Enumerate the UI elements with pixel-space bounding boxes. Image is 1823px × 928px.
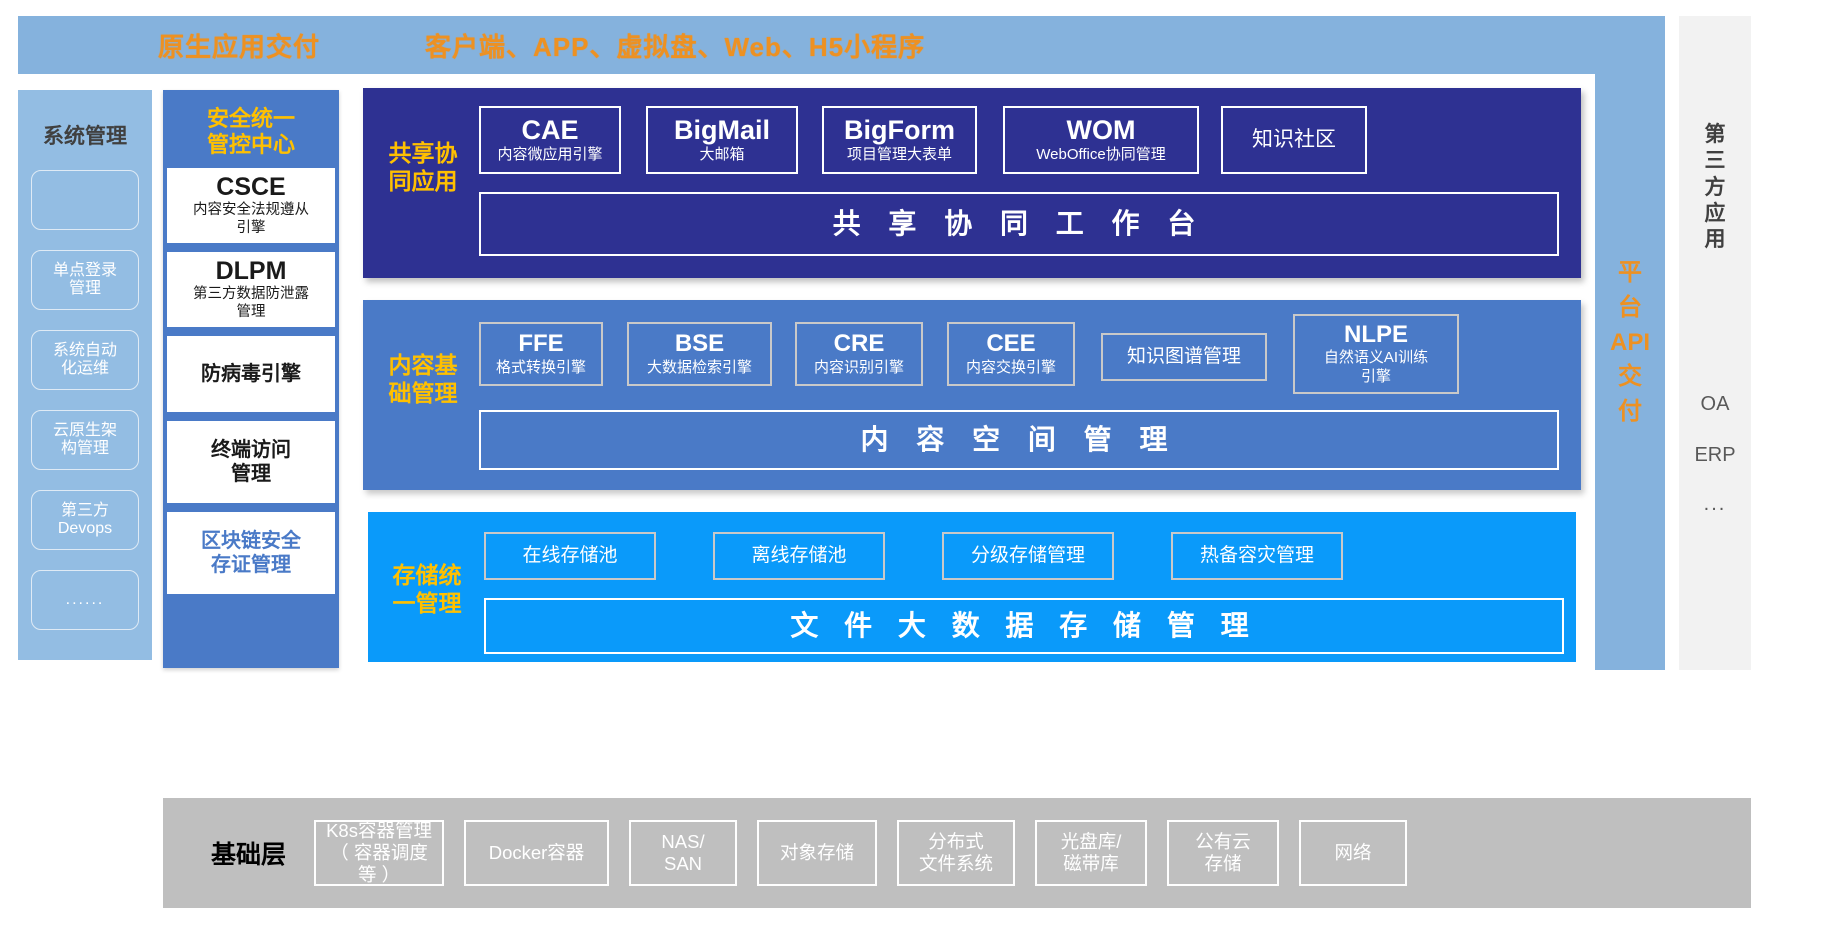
nas-line2: SAN	[661, 853, 704, 875]
csce-sub-line2: 引擎	[237, 220, 266, 237]
storage-band-wrapper: 存储统 一管理 在线存储池 离线存储池 分级存储管理 热备容灾管理 文 件 大 …	[363, 500, 1581, 670]
api-line-4: 交	[1610, 360, 1650, 395]
knowledge-graph-label: 知识图谱管理	[1127, 346, 1241, 368]
cae-code: CAE	[521, 116, 578, 146]
bse-code: BSE	[675, 331, 724, 357]
sidebar-item-third-party-devops[interactable]: 第三方 Devops	[31, 490, 139, 550]
shared-collaboration-workbench-bar: 共 享 协 同 工 作 台	[479, 192, 1559, 256]
engine-card-cre[interactable]: CRE 内容识别引擎	[795, 322, 923, 386]
api-line-2: 台	[1610, 291, 1650, 326]
system-management-title: 系统管理	[43, 120, 127, 150]
hot-backup-dr-label: 热备容灾管理	[1200, 545, 1314, 566]
docker-line1: Docker容器	[489, 842, 585, 864]
shared-collaboration-side-label: 共享协 同应用	[380, 140, 466, 195]
wom-sub: WebOffice协同管理	[1036, 146, 1165, 164]
engine-card-ffe[interactable]: FFE 格式转换引擎	[479, 322, 603, 386]
sidebar-item-more[interactable]: ......	[31, 570, 139, 630]
sys-item-line1: 云原生架	[53, 422, 117, 440]
storage-card-hot-backup-dr[interactable]: 热备容灾管理	[1171, 532, 1343, 580]
nlpe-sub-line2: 引擎	[1361, 368, 1391, 386]
sys-item-line2: 构管理	[61, 440, 109, 458]
architecture-diagram: 原生应用交付 客户端、APP、虚拟盘、Web、H5小程序 系统管理 单点登录 管…	[0, 0, 1823, 928]
api-line-5: 付	[1610, 395, 1650, 430]
sys-item-line2: 管理	[69, 280, 101, 298]
banner-left-label: 原生应用交付	[158, 27, 320, 64]
content-space-management-bar: 内 容 空 间 管 理	[479, 410, 1559, 470]
terminal-access-line1: 终端访问	[211, 438, 291, 462]
dlpm-sub-line1: 第三方数据防泄露	[193, 286, 309, 303]
csce-code: CSCE	[216, 174, 285, 202]
third-title-c1: 第	[1705, 122, 1726, 148]
engine-card-nlpe[interactable]: NLPE 自然语义AI训练 引擎	[1293, 314, 1459, 394]
storage-card-online-pool[interactable]: 在线存储池	[484, 532, 656, 580]
dlpm-code: DLPM	[216, 258, 287, 286]
base-layer-title: 基础层	[211, 835, 286, 871]
security-title-line1: 安全统一	[207, 106, 295, 132]
network-line1: 网络	[1335, 842, 1372, 864]
storage-card-tiered-management[interactable]: 分级存储管理	[942, 532, 1114, 580]
engine-card-cee[interactable]: CEE 内容交换引擎	[947, 322, 1075, 386]
base-card-public-cloud-storage[interactable]: 公有云 存储	[1167, 820, 1279, 886]
base-card-k8s[interactable]: K8s容器管理 （ 容器调度等 ）	[314, 820, 444, 886]
security-item-dlpm[interactable]: DLPM 第三方数据防泄露 管理	[167, 252, 335, 327]
security-title-line2: 管控中心	[207, 132, 295, 158]
base-card-distributed-fs[interactable]: 分布式 文件系统	[897, 820, 1015, 886]
online-pool-label: 在线存储池	[522, 545, 617, 566]
storage-management-band: 存储统 一管理 在线存储池 离线存储池 分级存储管理 热备容灾管理 文 件 大 …	[368, 512, 1576, 662]
bigmail-code: BigMail	[674, 116, 770, 146]
optical-line2: 磁带库	[1061, 853, 1122, 875]
third-party-item-oa: OA	[1701, 393, 1730, 416]
base-card-optical-tape-library[interactable]: 光盘库/ 磁带库	[1035, 820, 1147, 886]
bigmail-sub: 大邮箱	[699, 146, 744, 164]
security-control-center-column: 安全统一 管控中心 CSCE 内容安全法规遵从 引擎 DLPM 第三方数据防泄露…	[163, 90, 339, 668]
csce-sub-line1: 内容安全法规遵从	[193, 202, 309, 219]
nlpe-code: NLPE	[1344, 322, 1408, 348]
sidebar-item-user-management[interactable]	[31, 170, 139, 230]
content-label-line2: 础管理	[375, 380, 471, 408]
content-foundation-side-label: 内容基 础管理	[375, 352, 471, 407]
app-card-wom[interactable]: WOM WebOffice协同管理	[1003, 106, 1199, 174]
cre-code: CRE	[834, 331, 885, 357]
nlpe-sub-line1: 自然语义AI训练	[1324, 349, 1428, 367]
ffe-code: FFE	[518, 331, 563, 357]
third-party-item-erp: ERP	[1694, 444, 1735, 467]
sidebar-item-cloud-native-arch[interactable]: 云原生架 构管理	[31, 410, 139, 470]
api-line-3: API	[1610, 326, 1650, 361]
optical-line1: 光盘库/	[1061, 831, 1122, 853]
nas-line1: NAS/	[661, 831, 704, 853]
base-card-nas-san[interactable]: NAS/ SAN	[629, 820, 737, 886]
sys-item-line1: 单点登录	[53, 262, 117, 280]
shared-collaboration-band: 共享协 同应用 CAE 内容微应用引擎 BigMail 大邮箱 BigForm …	[363, 88, 1581, 278]
base-layer-band: 基础层 K8s容器管理 （ 容器调度等 ） Docker容器 NAS/ SAN …	[163, 798, 1751, 908]
banner-right-label: 客户端、APP、虚拟盘、Web、H5小程序	[425, 27, 925, 64]
k8s-line1: K8s容器管理	[324, 820, 434, 842]
base-card-docker[interactable]: Docker容器	[464, 820, 609, 886]
native-app-delivery-banner: 原生应用交付 客户端、APP、虚拟盘、Web、H5小程序	[18, 16, 1598, 74]
system-management-column: 系统管理 单点登录 管理 系统自动 化运维 云原生架 构管理 第三方 Devop…	[18, 90, 152, 660]
third-title-c4: 应	[1705, 201, 1726, 227]
storage-label-line2: 一管理	[378, 590, 476, 618]
k8s-line2: （ 容器调度等 ）	[324, 842, 434, 886]
security-center-title: 安全统一 管控中心	[207, 106, 295, 158]
cre-sub: 内容识别引擎	[814, 359, 904, 377]
file-bigdata-storage-bar: 文 件 大 数 据 存 储 管 理	[484, 598, 1564, 654]
bigform-sub: 项目管理大表单	[847, 146, 952, 164]
content-label-line1: 内容基	[375, 352, 471, 380]
app-card-bigmail[interactable]: BigMail 大邮箱	[646, 106, 798, 174]
dfs-line2: 文件系统	[919, 853, 993, 875]
engine-card-knowledge-graph[interactable]: 知识图谱管理	[1101, 333, 1267, 381]
third-title-c5: 用	[1705, 227, 1726, 253]
base-card-network[interactable]: 网络	[1299, 820, 1407, 886]
sidebar-item-sso-management[interactable]: 单点登录 管理	[31, 250, 139, 310]
third-title-c3: 方	[1705, 175, 1726, 201]
knowledge-community-label: 知识社区	[1252, 127, 1336, 152]
cee-sub: 内容交换引擎	[966, 359, 1056, 377]
app-card-bigform[interactable]: BigForm 项目管理大表单	[822, 106, 977, 174]
blockchain-line2: 存证管理	[211, 553, 291, 577]
api-line-1: 平	[1610, 256, 1650, 291]
share-label-line2: 同应用	[380, 168, 466, 196]
terminal-access-line2: 管理	[231, 462, 271, 486]
app-card-knowledge-community[interactable]: 知识社区	[1221, 106, 1367, 174]
storage-side-label: 存储统 一管理	[378, 562, 476, 617]
public-cloud-line1: 公有云	[1195, 831, 1251, 853]
security-item-antivirus-engine[interactable]: 防病毒引擎	[167, 336, 335, 412]
cae-sub: 内容微应用引擎	[497, 146, 602, 164]
security-item-terminal-access[interactable]: 终端访问 管理	[167, 421, 335, 503]
sys-item-line1: 系统自动	[53, 342, 117, 360]
blockchain-line1: 区块链安全	[201, 529, 301, 553]
app-card-cae[interactable]: CAE 内容微应用引擎	[479, 106, 621, 174]
storage-label-line1: 存储统	[378, 562, 476, 590]
base-card-object-storage[interactable]: 对象存储	[757, 820, 877, 886]
object-storage-line1: 对象存储	[780, 842, 854, 864]
cee-code: CEE	[986, 331, 1035, 357]
storage-card-offline-pool[interactable]: 离线存储池	[713, 532, 885, 580]
dfs-line1: 分布式	[919, 831, 993, 853]
dlpm-sub-line2: 管理	[237, 304, 266, 321]
sidebar-item-automated-ops[interactable]: 系统自动 化运维	[31, 330, 139, 390]
offline-pool-label: 离线存储池	[751, 545, 846, 566]
content-foundation-band: 内容基 础管理 FFE 格式转换引擎 BSE 大数据检索引擎 CRE 内容识别引…	[363, 300, 1581, 490]
sys-item-line1: 第三方	[61, 502, 109, 520]
antivirus-label: 防病毒引擎	[201, 362, 301, 386]
platform-api-delivery-column: 平 台 API 交 付	[1595, 16, 1665, 670]
third-party-item-more: ...	[1704, 493, 1727, 516]
security-item-blockchain-evidence[interactable]: 区块链安全 存证管理	[167, 512, 335, 594]
public-cloud-line2: 存储	[1195, 853, 1251, 875]
bigform-code: BigForm	[844, 116, 955, 146]
sys-item-line2: 化运维	[61, 360, 109, 378]
third-party-apps-column: 第 三 方 应 用 OA ERP ...	[1679, 16, 1751, 670]
third-title-c2: 三	[1705, 148, 1726, 174]
ffe-sub: 格式转换引擎	[496, 359, 586, 377]
security-item-csce[interactable]: CSCE 内容安全法规遵从 引擎	[167, 168, 335, 243]
third-party-title: 第 三 方 应 用	[1705, 122, 1726, 253]
engine-card-bse[interactable]: BSE 大数据检索引擎	[627, 322, 772, 386]
tiered-management-label: 分级存储管理	[971, 545, 1085, 566]
sys-item-line2: Devops	[58, 520, 112, 538]
platform-api-label: 平 台 API 交 付	[1610, 256, 1650, 430]
bse-sub: 大数据检索引擎	[647, 359, 752, 377]
sys-item-line1: ......	[66, 591, 105, 609]
wom-code: WOM	[1067, 116, 1136, 146]
share-label-line1: 共享协	[380, 140, 466, 168]
